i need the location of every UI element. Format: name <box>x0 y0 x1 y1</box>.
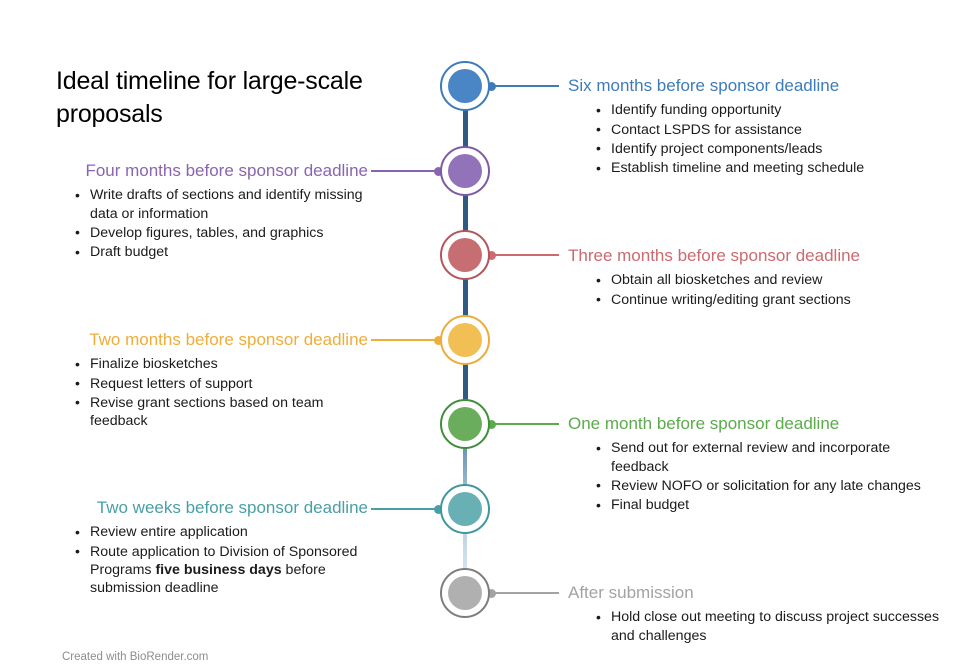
timeline-node-core-after-submission <box>448 576 482 610</box>
milestone-list-six-months: Identify funding opportunityContact LSPD… <box>568 101 940 177</box>
connector-line <box>489 85 559 87</box>
timeline-connector-three-months <box>489 254 559 256</box>
milestone-heading-three-months: Three months before sponsor deadline <box>568 245 940 266</box>
milestone-list-two-weeks: Review entire applicationRoute applicati… <box>20 523 372 597</box>
timeline-node-one-month[interactable] <box>440 399 490 449</box>
timeline-node-core-three-months <box>448 238 482 272</box>
milestone-heading-two-months: Two months before sponsor deadline <box>20 329 372 350</box>
milestone-list-one-month: Send out for external review and incorpo… <box>568 439 940 514</box>
milestone-block-one-month: One month before sponsor deadlineSend ou… <box>568 413 940 516</box>
list-item: Final budget <box>596 496 940 514</box>
attribution-footer: Created with BioRender.com <box>62 651 208 663</box>
page-title: Ideal timeline for large-scale proposals <box>56 65 386 131</box>
list-item: Develop figures, tables, and graphics <box>75 224 372 242</box>
milestone-list-two-months: Finalize biosketchesRequest letters of s… <box>20 355 372 430</box>
list-item: Revise grant sections based on team feed… <box>75 394 372 431</box>
list-item: Write drafts of sections and identify mi… <box>75 186 372 223</box>
list-item: Hold close out meeting to discuss projec… <box>596 608 940 645</box>
timeline-node-two-months[interactable] <box>440 315 490 365</box>
milestone-block-three-months: Three months before sponsor deadlineObta… <box>568 245 940 310</box>
milestone-block-two-months: Two months before sponsor deadlineFinali… <box>20 329 372 432</box>
connector-line <box>371 170 441 172</box>
milestone-block-after-submission: After submissionHold close out meeting t… <box>568 582 940 646</box>
milestone-heading-two-weeks: Two weeks before sponsor deadline <box>20 497 372 518</box>
list-item: Obtain all biosketches and review <box>596 271 940 289</box>
connector-line <box>371 339 441 341</box>
timeline-node-core-six-months <box>448 69 482 103</box>
connector-line <box>489 254 559 256</box>
milestone-list-four-months: Write drafts of sections and identify mi… <box>20 186 372 261</box>
timeline-connector-six-months <box>489 85 559 87</box>
timeline-node-three-months[interactable] <box>440 230 490 280</box>
timeline-node-six-months[interactable] <box>440 61 490 111</box>
connector-line <box>489 423 559 425</box>
list-item: Identify funding opportunity <box>596 101 940 119</box>
timeline-infographic: Ideal timeline for large-scale proposals… <box>0 0 960 672</box>
connector-line <box>371 508 441 510</box>
list-item: Review NOFO or solicitation for any late… <box>596 477 940 495</box>
timeline-node-core-one-month <box>448 407 482 441</box>
list-item: Review entire application <box>75 523 372 541</box>
milestone-heading-four-months: Four months before sponsor deadline <box>20 160 372 181</box>
list-item: Draft budget <box>75 243 372 261</box>
milestone-list-after-submission: Hold close out meeting to discuss projec… <box>568 608 940 645</box>
milestone-block-two-weeks: Two weeks before sponsor deadlineReview … <box>20 497 372 599</box>
timeline-node-core-two-months <box>448 323 482 357</box>
list-item: Establish timeline and meeting schedule <box>596 159 940 177</box>
timeline-connector-four-months <box>371 170 441 172</box>
milestone-list-three-months: Obtain all biosketches and reviewContinu… <box>568 271 940 309</box>
list-item: Route application to Division of Sponsor… <box>75 543 372 598</box>
milestone-heading-after-submission: After submission <box>568 582 940 603</box>
milestone-heading-six-months: Six months before sponsor deadline <box>568 75 940 96</box>
milestone-block-six-months: Six months before sponsor deadlineIdenti… <box>568 75 940 179</box>
timeline-node-core-two-weeks <box>448 492 482 526</box>
list-item: Send out for external review and incorpo… <box>596 439 940 476</box>
timeline-connector-two-weeks <box>371 508 441 510</box>
milestone-heading-one-month: One month before sponsor deadline <box>568 413 940 434</box>
list-item: Request letters of support <box>75 375 372 393</box>
timeline-connector-after-submission <box>489 592 559 594</box>
timeline-node-two-weeks[interactable] <box>440 484 490 534</box>
timeline-connector-one-month <box>489 423 559 425</box>
list-item: Contact LSPDS for assistance <box>596 121 940 139</box>
list-item: Identify project components/leads <box>596 140 940 158</box>
list-item: Finalize biosketches <box>75 355 372 373</box>
connector-line <box>489 592 559 594</box>
timeline-node-four-months[interactable] <box>440 146 490 196</box>
timeline-node-core-four-months <box>448 154 482 188</box>
list-item: Continue writing/editing grant sections <box>596 291 940 309</box>
timeline-node-after-submission[interactable] <box>440 568 490 618</box>
milestone-block-four-months: Four months before sponsor deadlineWrite… <box>20 160 372 263</box>
timeline-connector-two-months <box>371 339 441 341</box>
